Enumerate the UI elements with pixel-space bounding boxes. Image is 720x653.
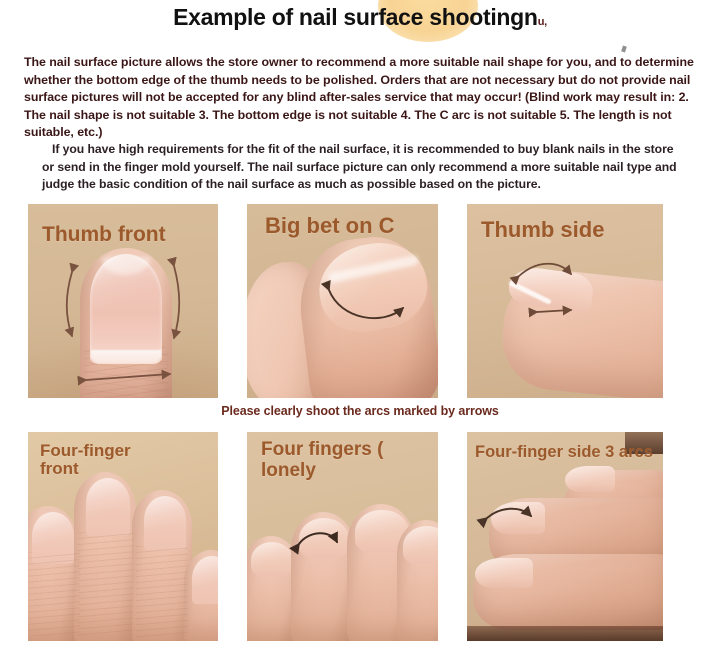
photo-label-big-bet-on-c: Big bet on C bbox=[265, 214, 395, 238]
photo-label-four-fingers-lonely: Four fingers ( lonely bbox=[261, 440, 383, 481]
photo-thumb-front[interactable]: Thumb front bbox=[28, 204, 218, 398]
page-title: Example of nail surface shootingnu, bbox=[0, 4, 720, 31]
photo-thumb-side[interactable]: Thumb side bbox=[467, 204, 663, 398]
title-stray-mark bbox=[621, 46, 627, 53]
bottom-shadow bbox=[467, 626, 663, 641]
arrow-right-arc bbox=[174, 266, 179, 338]
photo-four-fingers-lonely[interactable]: Four fingers ( lonely bbox=[247, 432, 438, 641]
photo-row-top: Thumb front Big bet on C bbox=[0, 204, 720, 398]
photo-label-four-finger-front: Four-finger front bbox=[40, 442, 131, 479]
nail-1 bbox=[251, 542, 293, 576]
nail-upper bbox=[565, 466, 615, 492]
knuckle-texture-1 bbox=[28, 552, 80, 636]
nail-3 bbox=[144, 496, 186, 550]
nail-4 bbox=[192, 556, 218, 604]
nail-middle bbox=[491, 502, 545, 534]
page-title-text: Example of nail surface shootingn bbox=[173, 4, 538, 30]
knuckle-texture-3 bbox=[136, 546, 188, 638]
photo-label-thumb-front: Thumb front bbox=[42, 224, 166, 247]
knuckle-texture-2 bbox=[78, 532, 134, 636]
page-title-suffix: u, bbox=[538, 16, 547, 28]
nail-2 bbox=[299, 518, 349, 558]
nail-4 bbox=[403, 526, 438, 564]
nail-2 bbox=[86, 478, 130, 536]
photo-four-finger-side-3-arcs[interactable]: Four-finger side 3 arcs bbox=[467, 432, 663, 641]
photo-big-bet-on-c[interactable]: Big bet on C bbox=[247, 204, 438, 398]
photo-label-thumb-side: Thumb side bbox=[481, 218, 604, 242]
arcs-instruction-caption: Please clearly shoot the arcs marked by … bbox=[0, 404, 720, 418]
secondary-paragraph: If you have high requirements for the fi… bbox=[42, 141, 687, 194]
secondary-paragraph-text: If you have high requirements for the fi… bbox=[42, 142, 677, 191]
photo-four-finger-front[interactable]: Four-finger front bbox=[28, 432, 218, 641]
arrow-left-arc bbox=[67, 272, 72, 336]
nail-lower bbox=[475, 558, 533, 588]
primary-paragraph: The nail surface picture allows the stor… bbox=[24, 54, 700, 142]
photo-label-four-finger-side-3-arcs: Four-finger side 3 arcs bbox=[475, 444, 653, 462]
photo-row-bottom: Four-finger front Four fingers ( lonely bbox=[0, 432, 720, 641]
nail-free-edge bbox=[91, 350, 161, 363]
